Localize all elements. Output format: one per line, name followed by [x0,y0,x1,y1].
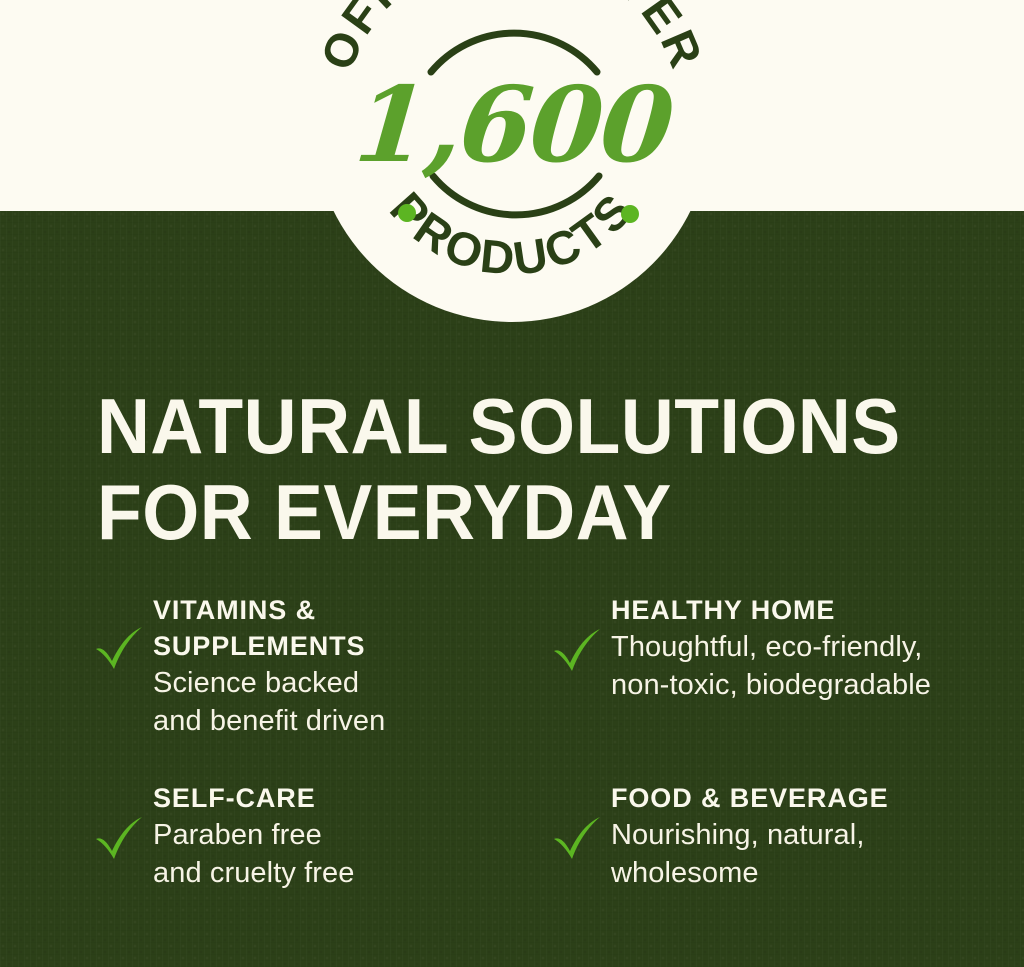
feature-item-healthy-home: HEALTHY HOME Thoughtful, eco-friendly, n… [544,592,1004,740]
check-icon [550,812,604,866]
feature-title: SELF-CARE [153,780,355,816]
feature-item-vitamins-supplements: VITAMINS & SUPPLEMENTS Science backed an… [92,592,544,740]
feature-text: SELF-CARE Paraben free and cruelty free [146,780,355,892]
feature-list: VITAMINS & SUPPLEMENTS Science backed an… [92,592,1004,892]
feature-description: Science backed and benefit driven [153,664,385,740]
feature-text: HEALTHY HOME Thoughtful, eco-friendly, n… [604,592,931,704]
feature-description: Paraben free and cruelty free [153,816,355,892]
badge-product-count: 1,600 [351,73,676,177]
page-title: NATURAL SOLUTIONS FOR EVERYDAY [97,383,924,555]
feature-title: VITAMINS & SUPPLEMENTS [153,592,385,664]
feature-description: Nourishing, natural, wholesome [611,816,889,892]
feature-item-self-care: SELF-CARE Paraben free and cruelty free [92,780,544,892]
feature-description: Thoughtful, eco-friendly, non-toxic, bio… [611,628,931,704]
promo-banner: OFFERING OVER PRODUCTS 1,600 NATURAL SOL… [0,0,1024,967]
check-icon [92,622,146,676]
badge-number-wrap: 1,600 [313,0,711,322]
check-icon [550,624,604,678]
feature-item-food-beverage: FOOD & BEVERAGE Nourishing, natural, who… [544,780,1004,892]
feature-title: HEALTHY HOME [611,592,931,628]
check-icon [92,812,146,866]
feature-title: FOOD & BEVERAGE [611,780,889,816]
feature-text: VITAMINS & SUPPLEMENTS Science backed an… [146,592,385,740]
feature-text: FOOD & BEVERAGE Nourishing, natural, who… [604,780,889,892]
